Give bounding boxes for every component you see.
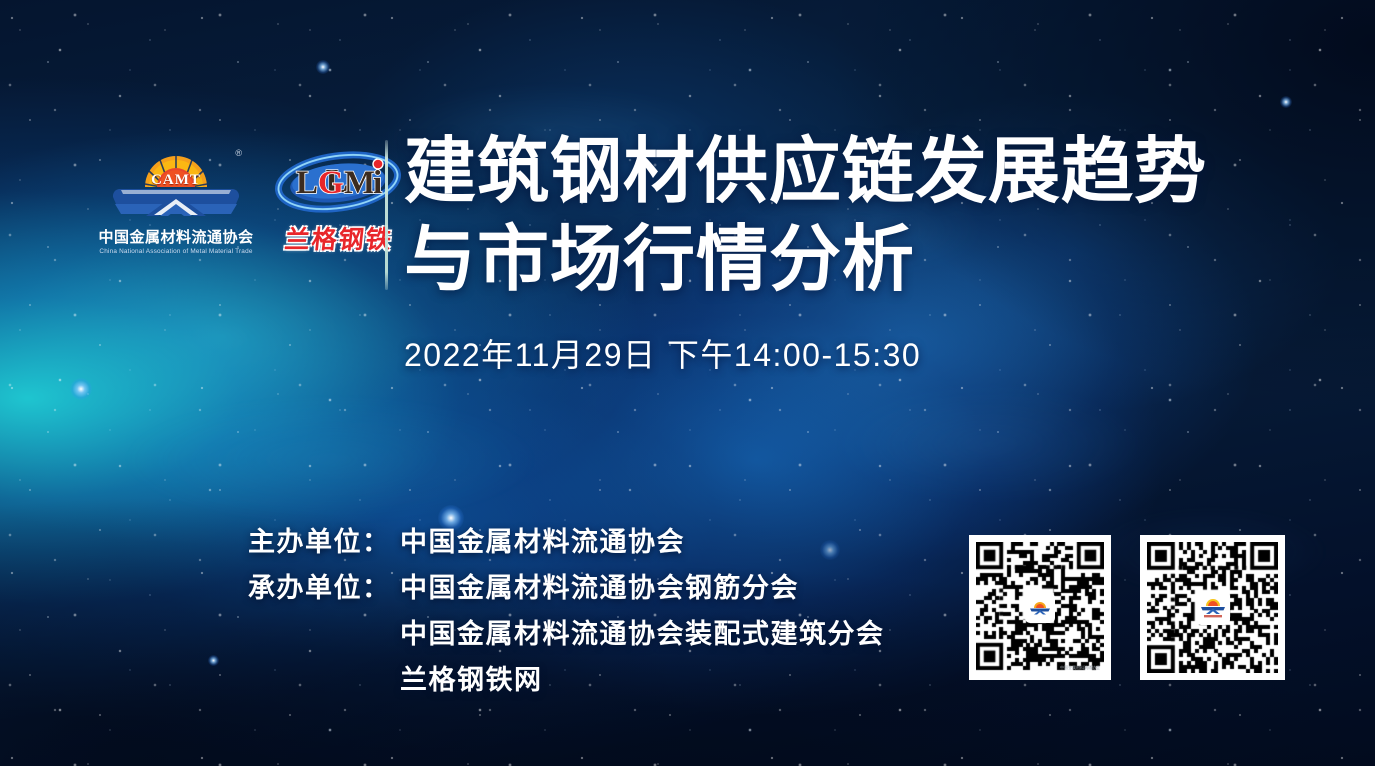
organizer-row: 承办单位： 中国金属材料流通协会装配式建筑分会 xyxy=(248,611,885,657)
camt-emblem-icon xyxy=(1200,598,1226,618)
organizer-value: 中国金属材料流通协会 xyxy=(400,519,685,565)
camt-name-cn: 中国金属材料流通协会 xyxy=(96,226,256,247)
svg-text:G: G xyxy=(318,165,344,201)
svg-text:M: M xyxy=(344,165,375,201)
title-line-1: 建筑钢材供应链发展趋势 xyxy=(404,128,1254,216)
camt-sunburst-icon xyxy=(1029,600,1051,616)
qr-code-wechat-official[interactable]: 中国金属材料流通协会 xyxy=(969,535,1111,680)
camt-logo: CAMT ® 中国金属材料流通协会 China National Associa… xyxy=(96,146,256,255)
camt-name-en: China National Association of Metal Mate… xyxy=(96,248,256,255)
organizer-value: 中国金属材料流通协会钢筋分会 xyxy=(400,565,799,611)
organizer-label: 承办单位： xyxy=(248,565,400,611)
qr-code-matrix xyxy=(1147,542,1278,673)
organizer-row: 承办单位： 中国金属材料流通协会钢筋分会 xyxy=(248,565,885,611)
organizer-block: 主办单位： 中国金属材料流通协会 承办单位： 中国金属材料流通协会钢筋分会 承办… xyxy=(248,519,885,703)
organizer-value: 兰格钢铁网 xyxy=(400,657,543,703)
qr-center-logo xyxy=(1025,593,1055,623)
bright-star-glow xyxy=(208,655,219,666)
camt-mark: CAMT ® xyxy=(96,146,256,224)
qr-footer-note: 中国金属材料流通协会 xyxy=(1060,665,1100,671)
organizer-value: 中国金属材料流通协会装配式建筑分会 xyxy=(400,611,885,657)
title-line-2: 与市场行情分析 xyxy=(404,216,1254,304)
organizer-row: 承办单位： 兰格钢铁网 xyxy=(248,657,885,703)
bright-star-glow xyxy=(316,60,330,74)
qr-center-logo xyxy=(1196,591,1230,625)
qr-code-registration[interactable] xyxy=(1140,535,1285,680)
svg-text:L: L xyxy=(296,165,318,201)
lgmi-orbit-icon: L L L G M i xyxy=(274,150,402,214)
event-datetime: 2022年11月29日 下午14:00-15:30 xyxy=(404,330,921,376)
camt-wordmark: CAMT xyxy=(151,172,201,189)
registered-trademark-icon: ® xyxy=(235,148,242,158)
qr-code-matrix: 中国金属材料流通协会 xyxy=(976,542,1104,673)
poster-canvas: CAMT ® 中国金属材料流通协会 China National Associa… xyxy=(0,0,1375,766)
bright-star-glow xyxy=(1280,96,1292,108)
bright-star-glow xyxy=(70,378,92,400)
vertical-divider xyxy=(385,140,388,290)
page-title: 建筑钢材供应链发展趋势 与市场行情分析 xyxy=(404,128,1254,304)
organizer-row: 主办单位： 中国金属材料流通协会 xyxy=(248,519,885,565)
logo-group: CAMT ® 中国金属材料流通协会 China National Associa… xyxy=(96,146,404,256)
organizer-label: 主办单位： xyxy=(248,519,400,565)
